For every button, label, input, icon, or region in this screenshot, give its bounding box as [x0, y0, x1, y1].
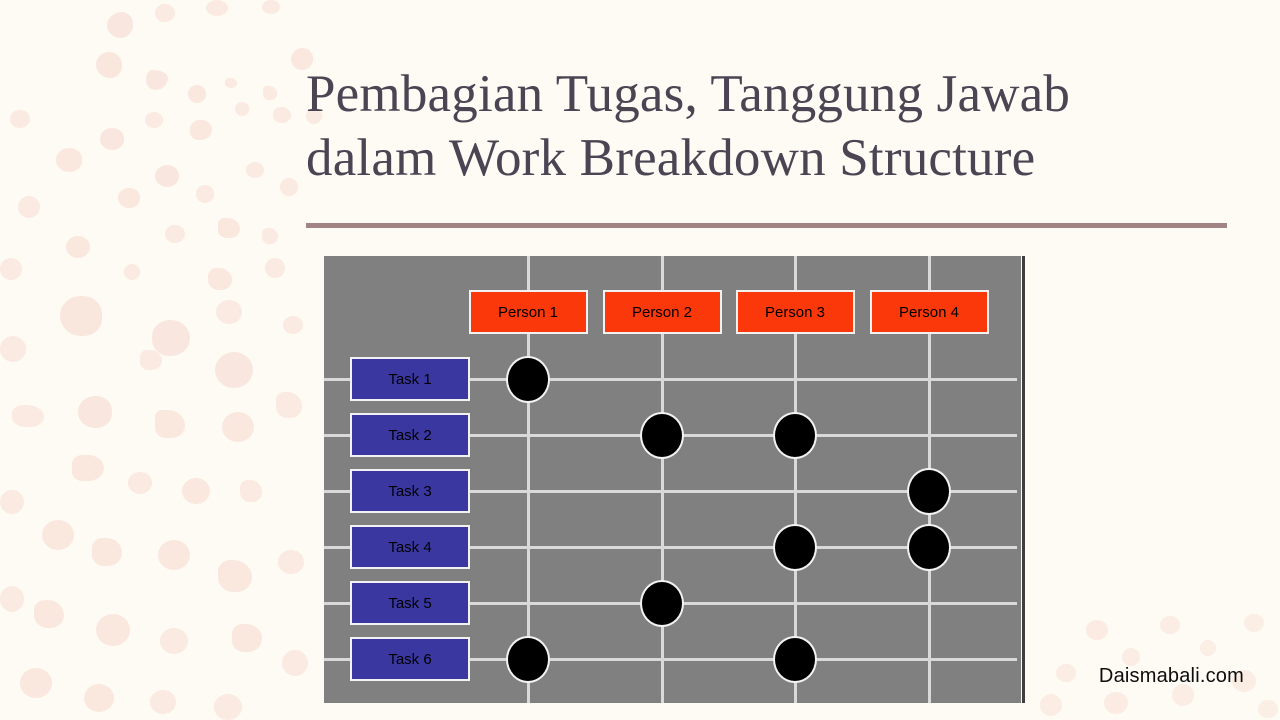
background-blob: [100, 128, 124, 150]
task-label-text: Task 5: [388, 595, 431, 612]
background-blob: [206, 0, 228, 16]
background-blob: [155, 165, 179, 187]
matrix-panel-shadow: [1022, 256, 1025, 703]
background-blob: [152, 320, 190, 356]
background-blob: [218, 560, 252, 592]
background-blob: [124, 264, 140, 280]
background-blob: [265, 258, 285, 278]
background-blob: [150, 690, 176, 714]
background-blob: [158, 540, 190, 570]
person-header-label: Person 2: [632, 304, 692, 321]
background-blob: [0, 490, 24, 514]
background-blob: [60, 296, 102, 336]
background-blob: [196, 185, 214, 203]
background-blob: [165, 225, 185, 243]
background-blob: [1040, 694, 1062, 716]
task-label-text: Task 4: [388, 539, 431, 556]
background-blob: [190, 120, 212, 140]
assignment-dot-r6-c3[interactable]: [773, 636, 817, 683]
background-blob: [225, 78, 237, 88]
background-blob: [283, 316, 303, 334]
background-blob: [262, 228, 278, 244]
background-blob: [222, 412, 254, 442]
background-blob: [0, 336, 26, 362]
background-blob: [1104, 692, 1128, 714]
background-blob: [188, 85, 206, 103]
assignment-dot-r4-c3[interactable]: [773, 524, 817, 571]
task-label-5[interactable]: Task 5: [350, 581, 470, 625]
assignment-dot-r2-c3[interactable]: [773, 412, 817, 459]
background-blob: [0, 258, 22, 280]
background-blob: [155, 410, 185, 438]
background-blob: [232, 624, 262, 652]
background-blob: [262, 0, 280, 14]
person-header-label: Person 1: [498, 304, 558, 321]
background-blob: [280, 178, 298, 196]
background-blob: [215, 352, 253, 388]
task-label-text: Task 6: [388, 651, 431, 668]
background-blob: [282, 650, 308, 676]
background-blob: [34, 600, 64, 628]
background-blob: [10, 110, 30, 128]
background-blob: [92, 538, 122, 566]
assignment-dot-r5-c2[interactable]: [640, 580, 684, 627]
assignment-dot-r6-c1[interactable]: [506, 636, 550, 683]
task-label-text: Task 3: [388, 483, 431, 500]
background-blob: [1244, 614, 1264, 632]
task-label-text: Task 2: [388, 427, 431, 444]
background-blob: [107, 12, 133, 38]
person-header-2[interactable]: Person 2: [603, 290, 722, 334]
assignment-dot-r3-c4[interactable]: [907, 468, 951, 515]
person-header-label: Person 3: [765, 304, 825, 321]
background-blob: [278, 550, 304, 574]
background-blob: [145, 112, 163, 128]
background-blob: [182, 478, 210, 504]
background-blob: [240, 480, 262, 502]
background-blob: [118, 188, 140, 208]
background-blob: [12, 405, 44, 427]
background-blob: [84, 684, 114, 712]
background-blob: [20, 668, 52, 698]
background-blob: [235, 102, 249, 116]
task-label-4[interactable]: Task 4: [350, 525, 470, 569]
background-blob: [276, 392, 302, 418]
background-blob: [216, 300, 242, 324]
background-blob: [1160, 616, 1180, 634]
background-blob: [1056, 664, 1076, 682]
background-blob: [214, 694, 242, 720]
background-blob: [1200, 640, 1216, 656]
person-header-1[interactable]: Person 1: [469, 290, 588, 334]
background-blob: [1086, 620, 1108, 640]
background-blob: [56, 148, 82, 172]
background-blob: [208, 268, 232, 290]
person-header-3[interactable]: Person 3: [736, 290, 855, 334]
task-label-6[interactable]: Task 6: [350, 637, 470, 681]
background-blob: [72, 455, 104, 481]
background-blob: [0, 586, 24, 612]
person-header-4[interactable]: Person 4: [870, 290, 989, 334]
watermark: Daismabali.com: [1099, 665, 1244, 688]
background-blob: [218, 218, 240, 238]
background-blob: [42, 520, 74, 550]
assignment-dot-r2-c2[interactable]: [640, 412, 684, 459]
background-blob: [155, 4, 175, 22]
background-blob: [273, 107, 291, 123]
background-blob: [66, 236, 90, 258]
background-blob: [263, 86, 277, 100]
background-blob: [246, 162, 264, 178]
title-divider: [306, 223, 1227, 228]
task-label-text: Task 1: [388, 371, 431, 388]
title-block: Pembagian Tugas, Tanggung Jawab dalam Wo…: [306, 62, 1226, 190]
task-label-2[interactable]: Task 2: [350, 413, 470, 457]
background-blob: [146, 70, 168, 90]
assignment-dot-r4-c4[interactable]: [907, 524, 951, 571]
background-blob: [128, 472, 152, 494]
assignment-dot-r1-c1[interactable]: [506, 356, 550, 403]
background-blob: [1122, 648, 1140, 666]
background-blob: [78, 396, 112, 428]
background-blob: [1258, 700, 1278, 718]
responsibility-matrix-panel: Person 1Person 2Person 3Person 4Task 1Ta…: [324, 256, 1021, 703]
background-blob: [96, 52, 122, 78]
person-header-label: Person 4: [899, 304, 959, 321]
task-label-1[interactable]: Task 1: [350, 357, 470, 401]
background-blob: [160, 628, 188, 654]
page-title: Pembagian Tugas, Tanggung Jawab dalam Wo…: [306, 62, 1226, 190]
background-blob: [140, 350, 162, 370]
background-blob: [96, 614, 130, 646]
background-blob: [18, 196, 40, 218]
task-label-3[interactable]: Task 3: [350, 469, 470, 513]
slide-canvas: Pembagian Tugas, Tanggung Jawab dalam Wo…: [0, 0, 1280, 720]
